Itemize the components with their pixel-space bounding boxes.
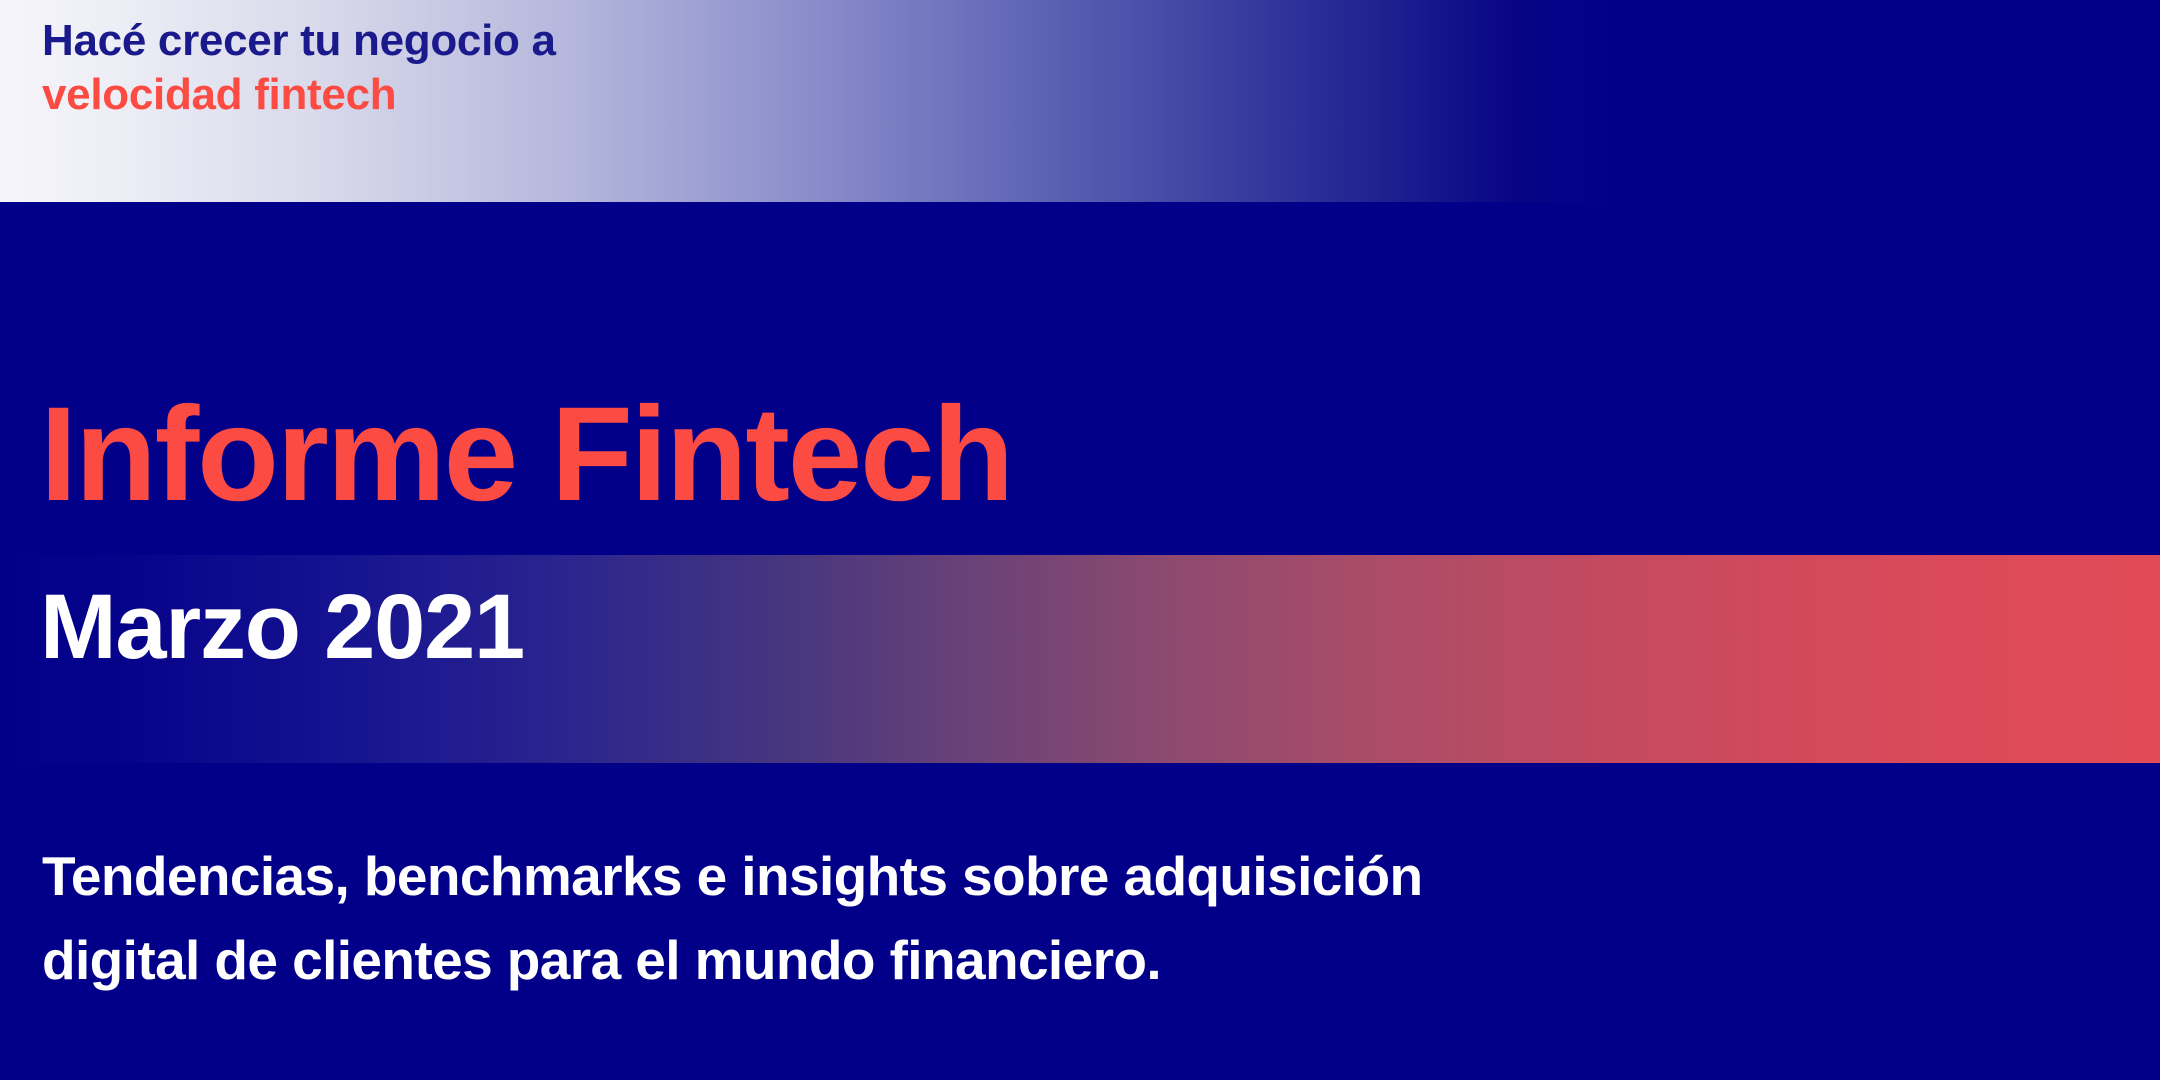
brand-tagline-line-1: Hacé crecer tu negocio a: [42, 14, 942, 68]
report-title: Informe Fintech: [40, 388, 1012, 522]
brand-tagline: Hacé crecer tu negocio a velocidad finte…: [42, 14, 942, 122]
brand-tagline-line-2: velocidad fintech: [42, 68, 942, 122]
report-cover-slide: Hacé crecer tu negocio a velocidad finte…: [0, 0, 2160, 1080]
report-date: Marzo 2021: [40, 581, 524, 673]
report-lead-paragraph: Tendencias, benchmarks e insights sobre …: [42, 835, 2102, 1002]
